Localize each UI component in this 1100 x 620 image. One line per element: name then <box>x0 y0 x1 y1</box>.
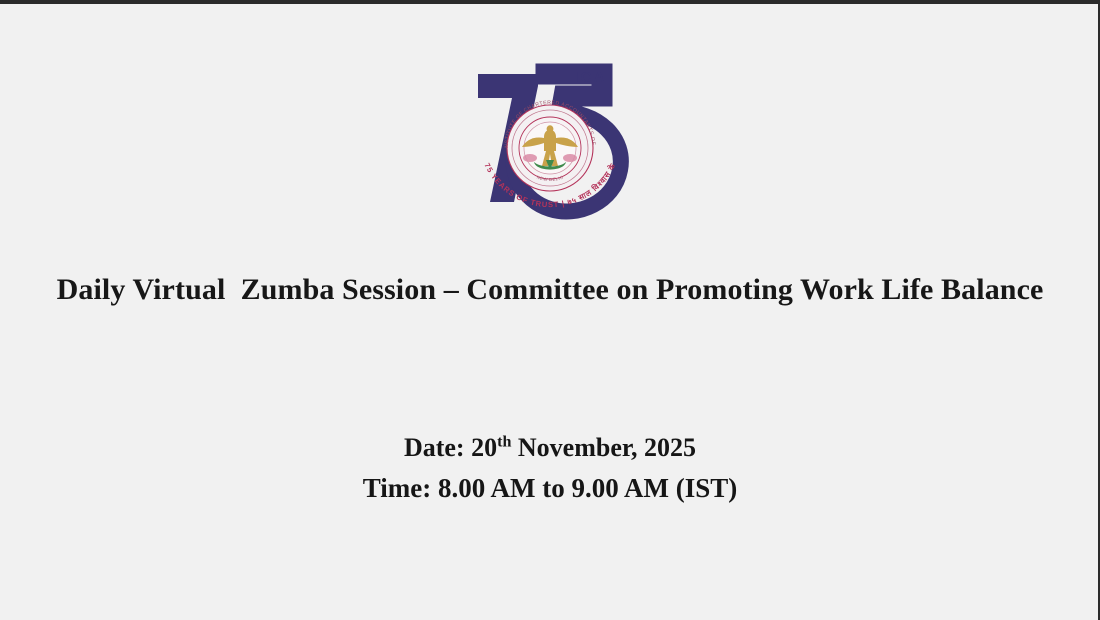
event-date-rest: November, 2025 <box>511 433 696 462</box>
presentation-slide: ICAI THE INSTITUTE OF CHARTERED ACCOUNTA… <box>0 0 1100 620</box>
event-time-line: Time: 8.00 AM to 9.00 AM (IST) <box>0 468 1100 510</box>
frame-top-letterbox-bar <box>0 0 1100 4</box>
logo-container: ICAI THE INSTITUTE OF CHARTERED ACCOUNTA… <box>0 52 1100 220</box>
event-date-day: 20 <box>471 433 497 462</box>
event-details-block: Date: 20th November, 2025 Time: 8.00 AM … <box>0 428 1100 510</box>
event-date-ordinal: th <box>497 433 511 450</box>
slide-title: Daily Virtual Zumba Session – Committee … <box>0 272 1100 308</box>
logo-icai-wordmark: ICAI <box>574 69 614 86</box>
event-date-label: Date: <box>404 433 471 462</box>
event-date-line: Date: 20th November, 2025 <box>0 428 1100 468</box>
icai-75-years-logo: ICAI THE INSTITUTE OF CHARTERED ACCOUNTA… <box>460 52 640 220</box>
